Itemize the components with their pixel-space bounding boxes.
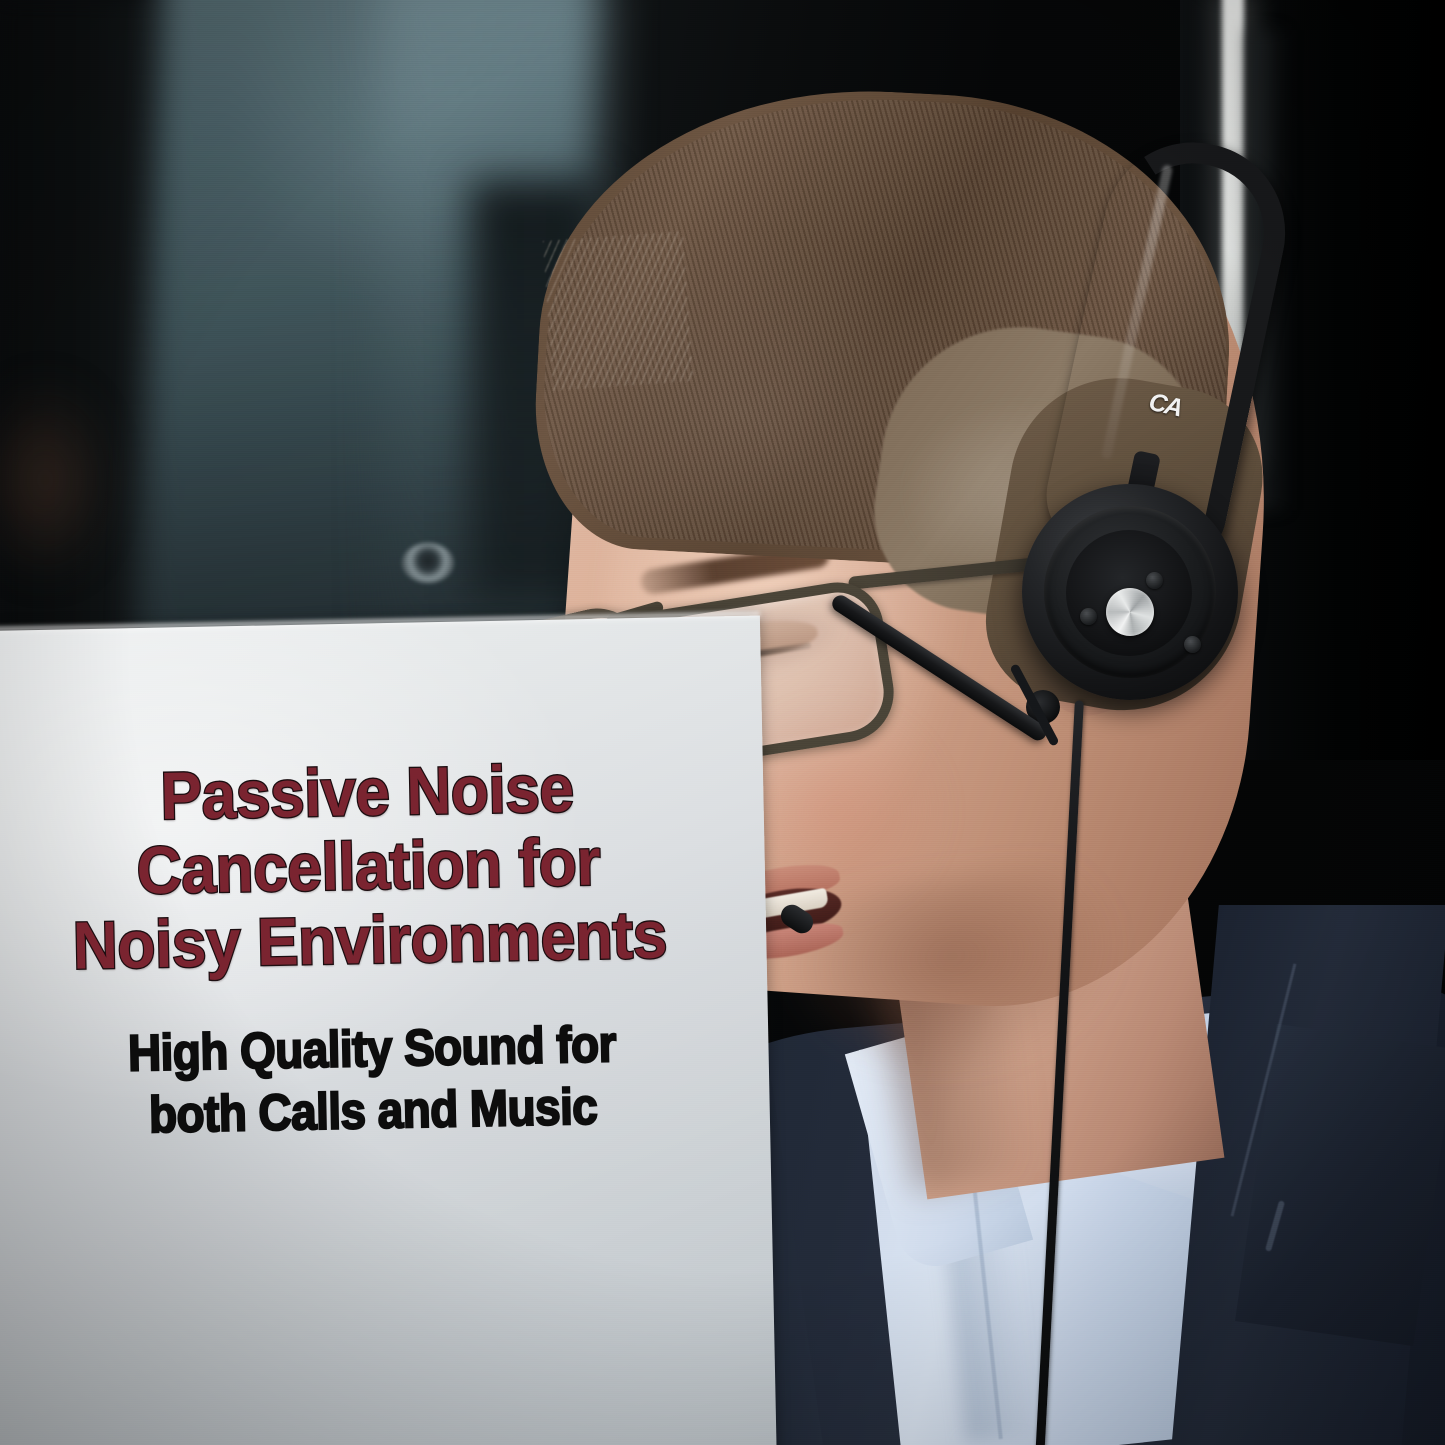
subheadline-line-2: both Calls and Music: [40, 1074, 707, 1149]
subheadline: High Quality Sound for both Calls and Mu…: [38, 1012, 706, 1149]
earcup-button-1: [1146, 572, 1163, 589]
hair-wisps: [543, 231, 693, 390]
earcup-button-3: [1184, 636, 1201, 653]
earcup-silver-hub: [1106, 588, 1154, 636]
marketing-copy-block: Passive Noise Cancellation for Noisy Env…: [0, 749, 744, 1149]
subheadline-line-1: High Quality Sound for: [38, 1012, 705, 1087]
headline-line-1: Passive Noise: [22, 749, 711, 836]
headline-line-3: Noisy Environments: [25, 897, 714, 984]
earcup-button-2: [1080, 608, 1097, 625]
product-marketing-image: CA Passive Noise Cancellation for Noisy …: [0, 0, 1445, 1445]
headline: Passive Noise Cancellation for Noisy Env…: [22, 749, 714, 984]
